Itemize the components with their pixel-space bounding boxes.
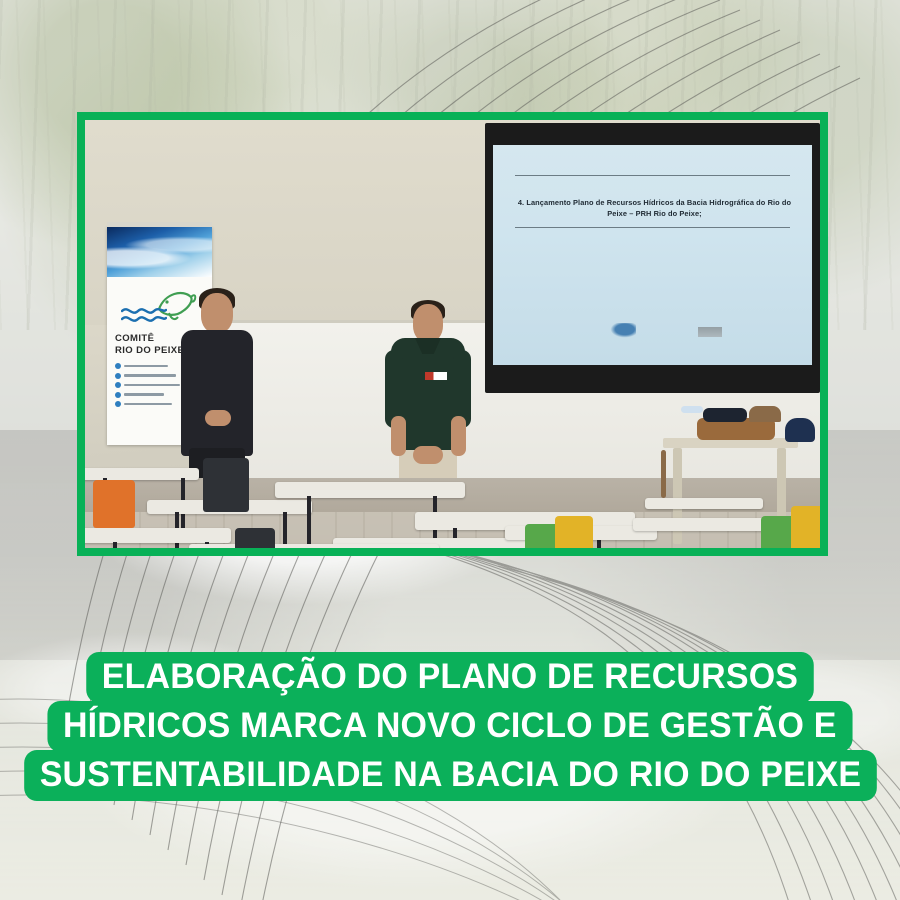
contact-text-placeholder [124, 365, 168, 368]
suit-jacket [181, 330, 253, 456]
student-desk [85, 528, 231, 543]
slide-comite-logo-icon [608, 323, 636, 339]
wave-logo-icon [121, 305, 167, 327]
left-forearm [391, 416, 406, 456]
globe-icon [115, 382, 121, 388]
contact-text-placeholder [124, 393, 164, 396]
student-desk [645, 498, 763, 509]
headline-row: HÍDRICOS MARCA NOVO CICLO DE GESTÃO E [0, 701, 900, 752]
headline-line-3: SUSTENTABILIDADE NA BACIA DO RIO DO PEIX… [24, 750, 877, 801]
contact-text-placeholder [124, 374, 176, 377]
slide-rule-top [515, 175, 790, 176]
orange-chair [93, 480, 135, 528]
yellow-chair [555, 516, 593, 548]
head [201, 293, 233, 333]
contact-text-placeholder [124, 403, 172, 406]
slide-partner-logo-icon [698, 327, 722, 337]
student-desk [189, 544, 439, 548]
projection-screen: 4. Lançamento Plano de Recursos Hídricos… [493, 145, 812, 365]
cap [785, 418, 815, 442]
headline-block: ELABORAÇÃO DO PLANO DE RECURSOS HÍDRICOS… [0, 652, 900, 801]
headline-line-2: HÍDRICOS MARCA NOVO CICLO DE GESTÃO E [48, 701, 853, 752]
student-desk [633, 518, 765, 531]
desk-leg [113, 542, 117, 548]
slide-rule-bottom [515, 227, 790, 228]
dark-chair [235, 528, 275, 548]
headline-line-1: ELABORAÇÃO DO PLANO DE RECURSOS [86, 652, 813, 703]
projection-screen-case: 4. Lançamento Plano de Recursos Hídricos… [485, 123, 820, 393]
headline-row: ELABORAÇÃO DO PLANO DE RECURSOS [0, 652, 900, 703]
right-forearm [451, 416, 466, 456]
mail-icon [115, 373, 121, 379]
dark-bag [703, 408, 747, 422]
headline-row: SUSTENTABILIDADE NA BACIA DO RIO DO PEIX… [0, 750, 900, 801]
yellow-chair [791, 506, 820, 548]
phone-icon [115, 363, 121, 369]
bag-strap [661, 450, 666, 498]
photo-green-frame: 4. Lançamento Plano de Recursos Hídricos… [77, 112, 828, 556]
poster-canvas: 4. Lançamento Plano de Recursos Hídricos… [0, 0, 900, 900]
shirt-logo-icon [425, 372, 447, 380]
bag-handle [749, 406, 781, 422]
dark-chair [203, 458, 249, 512]
desk-leg [283, 512, 287, 548]
desk-leg [307, 496, 311, 548]
clasped-hands [413, 446, 443, 464]
facebook-icon [115, 392, 121, 398]
banner-wave-graphic [107, 227, 212, 277]
clasped-hands [205, 410, 231, 426]
head [413, 304, 443, 342]
slide-text: 4. Lançamento Plano de Recursos Hídricos… [515, 197, 794, 219]
contact-text-placeholder [124, 384, 180, 387]
instagram-icon [115, 401, 121, 407]
event-photo: 4. Lançamento Plano de Recursos Hídricos… [85, 120, 820, 548]
paper-stack [681, 406, 703, 413]
